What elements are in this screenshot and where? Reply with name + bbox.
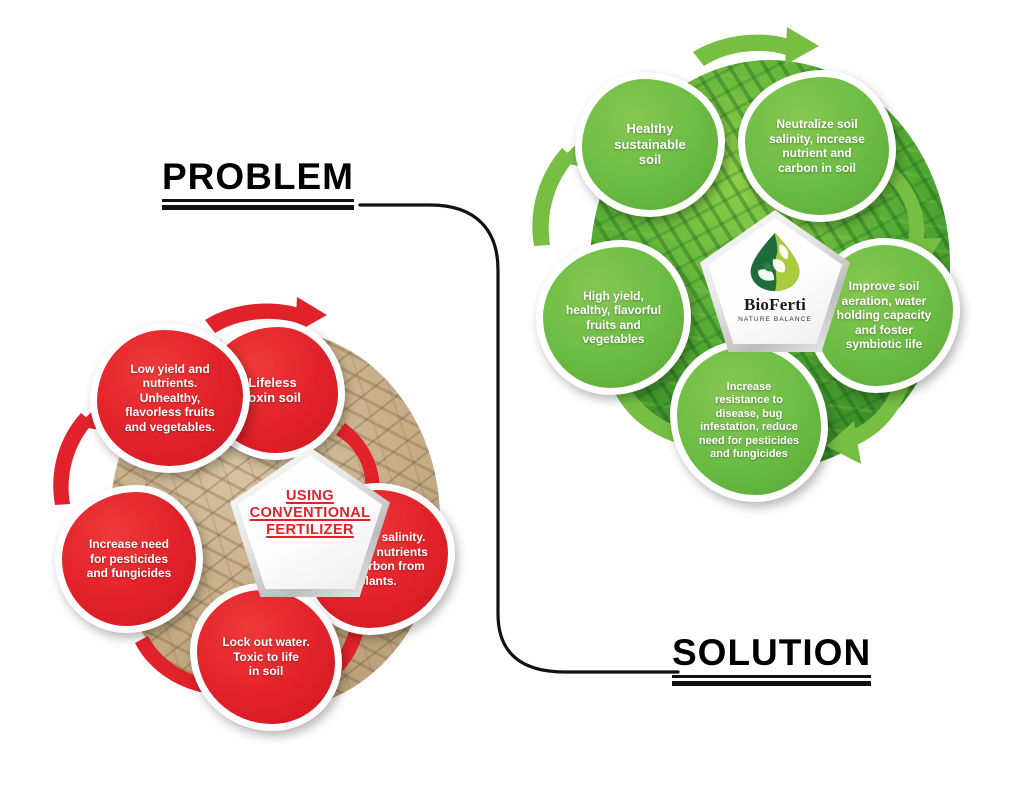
solution-lobe-high-yield-healthy[interactable]: High yield,healthy, flavorfulfruits andv… — [536, 240, 691, 395]
problem-lobe-low-yield-nutrients[interactable]: Low yield andnutrients.Unhealthy,flavorl… — [90, 323, 250, 473]
solution-lobe-label: Improve soilaeration, waterholding capac… — [829, 279, 940, 352]
solution-heading-rule-thick — [672, 681, 871, 686]
problem-heading-label: PROBLEM — [162, 157, 354, 197]
problem-lobe-label: Increase needfor pesticidesand fungicide… — [79, 537, 180, 581]
solution-lobe-label: Healthysustainablesoil — [606, 121, 694, 168]
solution-heading: SOLUTION — [672, 633, 871, 686]
problem-heading: PROBLEM — [162, 157, 354, 210]
problem-heading-rule-thick — [162, 205, 354, 210]
bioferti-tagline: NATURE BALANCE — [738, 316, 812, 323]
solution-heading-label: SOLUTION — [672, 633, 871, 673]
solution-cycle: Healthysustainablesoil Neutralize soilsa… — [520, 20, 1020, 520]
solution-lobe-label: Increaseresistance todisease, buginfesta… — [691, 381, 807, 462]
bioferti-logo: TM BioFerti NATURE BALANCE — [738, 231, 812, 323]
solution-lobe-label: Neutralize soilsalinity, increasenutrien… — [761, 117, 873, 175]
problem-lobe-label: Lock out water.Toxic to lifein soil — [214, 635, 317, 679]
solution-lobe-healthy-sustainable-soil[interactable]: Healthysustainablesoil — [575, 72, 725, 217]
solution-lobe-label: High yield,healthy, flavorfulfruits andv… — [558, 289, 669, 347]
infographic-canvas: PROBLEM SOLUTION — [0, 0, 1024, 791]
problem-lobe-increase-need-pesticides[interactable]: Increase needfor pesticidesand fungicide… — [55, 485, 203, 633]
solution-heading-rule-thin — [672, 675, 871, 678]
problem-center-label: USING CONVENTIONAL FERTILIZER — [238, 488, 382, 539]
problem-heading-rule-thin — [162, 199, 354, 202]
problem-lobe-label: Low yield andnutrients.Unhealthy,flavorl… — [117, 362, 223, 435]
leaf-droplet-icon: TM — [745, 231, 805, 293]
bioferti-brand-name: BioFerti — [744, 295, 806, 315]
problem-cycle: Lifelesstoxin soil Increase salinity.Loc… — [45, 295, 515, 745]
